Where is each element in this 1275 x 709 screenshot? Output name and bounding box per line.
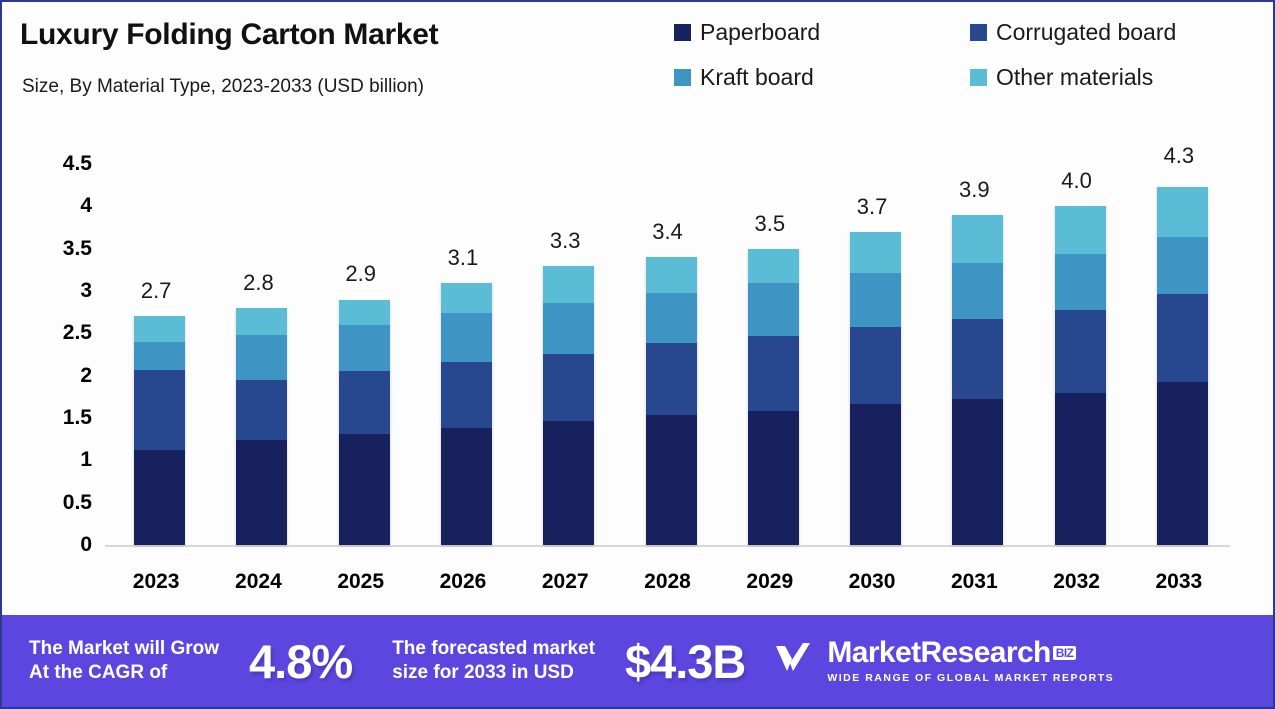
bar-segment-corrugated-board[interactable] bbox=[1055, 310, 1106, 394]
bar-group-2032[interactable]: 4.02032 bbox=[1031, 2, 1123, 602]
bar-segment-corrugated-board[interactable] bbox=[236, 380, 287, 440]
bar-segment-corrugated-board[interactable] bbox=[339, 371, 390, 434]
bar-segment-corrugated-board[interactable] bbox=[850, 327, 901, 404]
bar-segment-corrugated-board[interactable] bbox=[543, 354, 594, 422]
x-axis-tick-label: 2033 bbox=[1133, 570, 1225, 594]
y-axis-tick-label: 0 bbox=[32, 533, 92, 557]
bar-value-label: 2.9 bbox=[315, 261, 407, 287]
x-axis-tick-label: 2023 bbox=[110, 570, 202, 594]
bars-layer: 2.720232.820242.920253.120263.320273.420… bbox=[105, 2, 1230, 602]
bar-segment-other-materials[interactable] bbox=[1157, 187, 1208, 237]
bar-segment-other-materials[interactable] bbox=[236, 308, 287, 335]
bar-value-label: 3.3 bbox=[519, 228, 611, 254]
cagr-label-block: The Market will Grow At the CAGR of bbox=[29, 637, 219, 685]
bar-segment-paperboard[interactable] bbox=[1055, 393, 1106, 545]
x-axis-tick-label: 2025 bbox=[315, 570, 407, 594]
x-axis-tick-label: 2027 bbox=[519, 570, 611, 594]
bar-segment-corrugated-board[interactable] bbox=[134, 370, 185, 450]
forecast-label-block: The forecasted market size for 2033 in U… bbox=[392, 637, 595, 685]
bar-segment-corrugated-board[interactable] bbox=[646, 343, 697, 416]
bar-segment-kraft-board[interactable] bbox=[441, 313, 492, 362]
bar-segment-other-materials[interactable] bbox=[748, 249, 799, 284]
bar-value-label: 4.0 bbox=[1031, 168, 1123, 194]
logo-wordmark: MarketResearchBIZ bbox=[827, 636, 1076, 669]
x-axis-tick-label: 2029 bbox=[724, 570, 816, 594]
bar-segment-paperboard[interactable] bbox=[748, 411, 799, 545]
bar-group-2028[interactable]: 3.42028 bbox=[622, 2, 714, 602]
stacked-bar[interactable] bbox=[543, 266, 594, 545]
y-axis-tick-label: 2 bbox=[32, 364, 92, 388]
bar-segment-paperboard[interactable] bbox=[543, 421, 594, 545]
bar-segment-other-materials[interactable] bbox=[850, 232, 901, 273]
y-axis-tick-label: 3.5 bbox=[32, 237, 92, 261]
bar-segment-corrugated-board[interactable] bbox=[748, 336, 799, 411]
bar-segment-other-materials[interactable] bbox=[952, 215, 1003, 263]
bar-value-label: 3.9 bbox=[928, 177, 1020, 203]
stacked-bar[interactable] bbox=[1055, 206, 1106, 545]
bar-segment-paperboard[interactable] bbox=[952, 399, 1003, 545]
y-axis-tick-label: 0.5 bbox=[32, 491, 92, 515]
logo-badge: BIZ bbox=[1053, 646, 1077, 660]
bar-group-2025[interactable]: 2.92025 bbox=[315, 2, 407, 602]
bar-segment-other-materials[interactable] bbox=[646, 257, 697, 293]
bar-segment-other-materials[interactable] bbox=[1055, 206, 1106, 253]
x-axis-tick-label: 2024 bbox=[212, 570, 304, 594]
bar-group-2024[interactable]: 2.82024 bbox=[212, 2, 304, 602]
x-axis-tick-label: 2031 bbox=[928, 570, 1020, 594]
stacked-bar[interactable] bbox=[850, 232, 901, 545]
bar-segment-kraft-board[interactable] bbox=[646, 293, 697, 343]
logo-tagline: WIDE RANGE OF GLOBAL MARKET REPORTS bbox=[827, 672, 1114, 684]
y-axis-tick-label: 4 bbox=[32, 194, 92, 218]
brand-logo[interactable]: MarketResearchBIZ WIDE RANGE OF GLOBAL M… bbox=[771, 637, 1114, 686]
y-axis-tick-label: 1.5 bbox=[32, 406, 92, 430]
bar-segment-paperboard[interactable] bbox=[134, 450, 185, 545]
bar-value-label: 3.7 bbox=[826, 194, 918, 220]
y-axis-tick-label: 1 bbox=[32, 448, 92, 472]
logo-name: MarketResearch bbox=[827, 636, 1050, 669]
bar-segment-kraft-board[interactable] bbox=[952, 263, 1003, 319]
bar-value-label: 3.4 bbox=[622, 219, 714, 245]
bar-group-2033[interactable]: 4.32033 bbox=[1133, 2, 1225, 602]
logo-text-block: MarketResearchBIZ WIDE RANGE OF GLOBAL M… bbox=[827, 638, 1114, 684]
bar-segment-other-materials[interactable] bbox=[543, 266, 594, 303]
bar-group-2031[interactable]: 3.92031 bbox=[928, 2, 1020, 602]
bar-segment-paperboard[interactable] bbox=[1157, 382, 1208, 545]
stacked-bar[interactable] bbox=[236, 308, 287, 545]
bar-group-2030[interactable]: 3.72030 bbox=[826, 2, 918, 602]
cagr-label-line1: The Market will Grow bbox=[29, 637, 219, 661]
bar-segment-paperboard[interactable] bbox=[236, 440, 287, 545]
bar-segment-corrugated-board[interactable] bbox=[952, 319, 1003, 399]
bar-group-2029[interactable]: 3.52029 bbox=[724, 2, 816, 602]
stacked-bar[interactable] bbox=[339, 300, 390, 546]
bar-segment-paperboard[interactable] bbox=[441, 428, 492, 545]
bar-segment-kraft-board[interactable] bbox=[339, 325, 390, 372]
x-axis-tick-label: 2028 bbox=[622, 570, 714, 594]
stacked-bar[interactable] bbox=[441, 283, 492, 545]
x-axis-tick-label: 2030 bbox=[826, 570, 918, 594]
bar-value-label: 2.8 bbox=[212, 270, 304, 296]
bar-value-label: 3.1 bbox=[417, 245, 509, 271]
bar-value-label: 4.3 bbox=[1133, 143, 1225, 169]
stacked-bar[interactable] bbox=[1157, 187, 1208, 545]
bar-value-label: 2.7 bbox=[110, 278, 202, 304]
bar-segment-corrugated-board[interactable] bbox=[1157, 294, 1208, 382]
y-axis-tick-label: 2.5 bbox=[32, 321, 92, 345]
chart-plot-area: 00.511.522.533.544.5 2.720232.820242.920… bbox=[2, 2, 1275, 602]
infographic-root: Luxury Folding Carton Market Size, By Ma… bbox=[0, 0, 1275, 709]
cagr-value: 4.8% bbox=[249, 634, 352, 689]
stacked-bar[interactable] bbox=[134, 316, 185, 545]
bar-segment-other-materials[interactable] bbox=[339, 300, 390, 325]
footer-banner: The Market will Grow At the CAGR of 4.8%… bbox=[2, 615, 1275, 707]
bar-segment-paperboard[interactable] bbox=[339, 434, 390, 545]
y-axis-tick-label: 4.5 bbox=[32, 152, 92, 176]
stacked-bar[interactable] bbox=[748, 249, 799, 545]
bar-segment-kraft-board[interactable] bbox=[543, 303, 594, 354]
bar-segment-corrugated-board[interactable] bbox=[441, 362, 492, 428]
stacked-bar[interactable] bbox=[952, 215, 1003, 545]
bar-segment-kraft-board[interactable] bbox=[748, 283, 799, 335]
checkmark-icon bbox=[771, 637, 815, 686]
bar-segment-kraft-board[interactable] bbox=[236, 335, 287, 380]
bar-group-2027[interactable]: 3.32027 bbox=[519, 2, 611, 602]
x-axis-tick-label: 2032 bbox=[1031, 570, 1123, 594]
forecast-value: $4.3B bbox=[625, 634, 745, 689]
stacked-bar[interactable] bbox=[646, 257, 697, 545]
x-axis-tick-label: 2026 bbox=[417, 570, 509, 594]
bar-segment-kraft-board[interactable] bbox=[1055, 254, 1106, 310]
bar-segment-paperboard[interactable] bbox=[646, 415, 697, 545]
y-axis-tick-label: 3 bbox=[32, 279, 92, 303]
bar-segment-kraft-board[interactable] bbox=[1157, 237, 1208, 294]
forecast-label-line1: The forecasted market bbox=[392, 637, 595, 661]
y-axis-labels: 00.511.522.533.544.5 bbox=[30, 2, 92, 602]
forecast-label-line2: size for 2033 in USD bbox=[392, 661, 595, 685]
bar-group-2026[interactable]: 3.12026 bbox=[417, 2, 509, 602]
bar-segment-kraft-board[interactable] bbox=[850, 273, 901, 327]
cagr-label-line2: At the CAGR of bbox=[29, 661, 219, 685]
bar-segment-other-materials[interactable] bbox=[441, 283, 492, 313]
bar-segment-paperboard[interactable] bbox=[850, 404, 901, 545]
bar-segment-other-materials[interactable] bbox=[134, 316, 185, 341]
bar-group-2023[interactable]: 2.72023 bbox=[110, 2, 202, 602]
bar-value-label: 3.5 bbox=[724, 211, 816, 237]
bar-segment-kraft-board[interactable] bbox=[134, 342, 185, 370]
